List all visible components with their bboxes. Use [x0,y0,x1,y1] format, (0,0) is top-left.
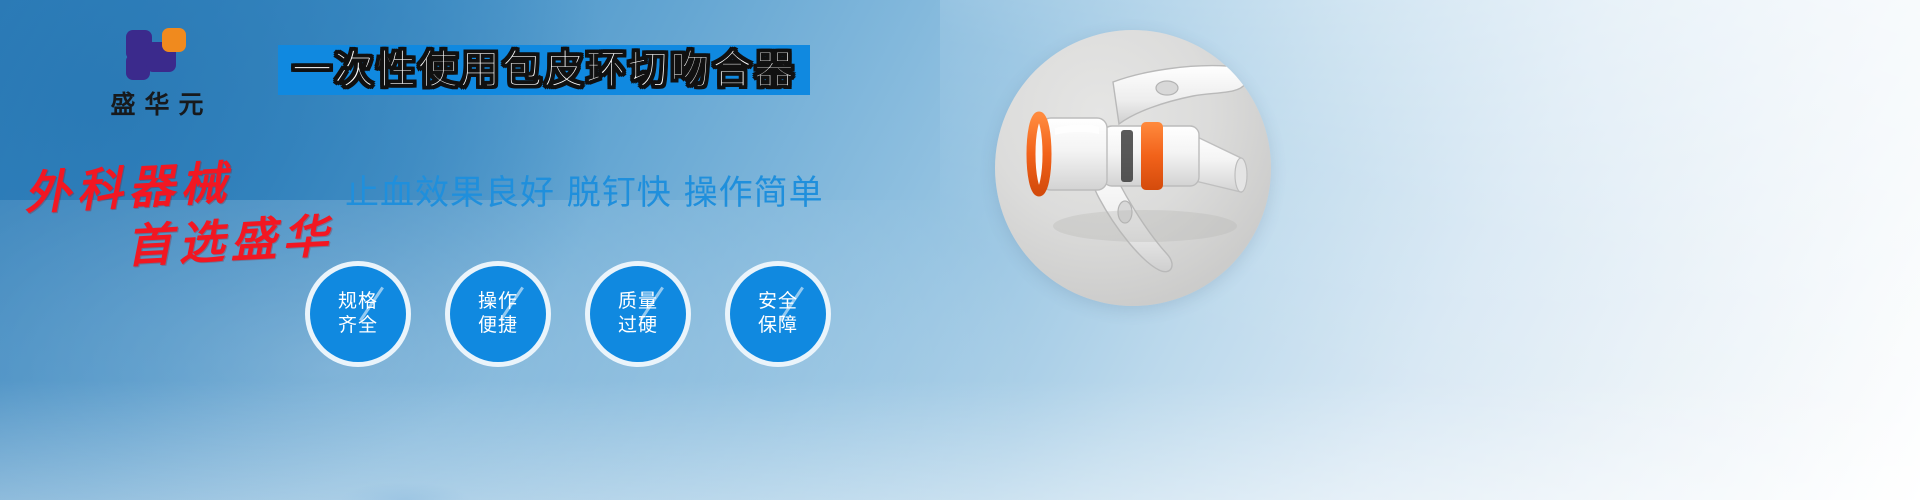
logo-square-orange [162,28,186,52]
orange-collar [1141,122,1163,190]
feature-badge-line2: 过硬 [618,314,658,338]
slogan-line-2: 首选盛华 [124,200,335,277]
subheadline-text: 止血效果良好 脱钉快 操作简单 [345,165,824,214]
feature-badge-line1: 规格 [338,290,378,314]
feature-badge: 安全 保障 [730,266,826,362]
upper-handle-arm [1113,66,1247,124]
background-bottom-fade [0,380,1920,500]
product-image [995,30,1271,306]
feature-badge-line2: 便捷 [478,314,518,338]
feature-badge-line2: 保障 [758,314,798,338]
background-artifact [340,482,470,500]
seam-band [1121,130,1133,182]
feature-badge-line1: 质量 [618,290,658,314]
headline-text: 一次性使用包皮环切吻合器 [292,50,796,90]
headline-bar: 一次性使用包皮环切吻合器 [278,45,810,95]
logo-mark-icon [126,28,188,84]
feature-badge-line1: 操作 [478,290,518,314]
product-illustration [995,30,1271,306]
feature-badge-list: 规格 齐全 操作 便捷 质量 过硬 安全 保障 [310,266,826,362]
anvil-tip [1235,158,1247,192]
brand-logo: 盛华元 [62,28,252,117]
feature-badge: 操作 便捷 [450,266,546,362]
promo-banner: 盛华元 外科器械 首选盛华 一次性使用包皮环切吻合器 止血效果良好 脱钉快 操作… [0,0,1920,500]
feature-badge: 规格 齐全 [310,266,406,362]
product-shadow [1053,210,1237,242]
brand-name: 盛华元 [62,92,252,117]
feature-badge-line2: 齐全 [338,314,378,338]
upper-arm-hole [1156,81,1178,95]
feature-badge: 质量 过硬 [590,266,686,362]
feature-badge-line1: 安全 [758,290,798,314]
